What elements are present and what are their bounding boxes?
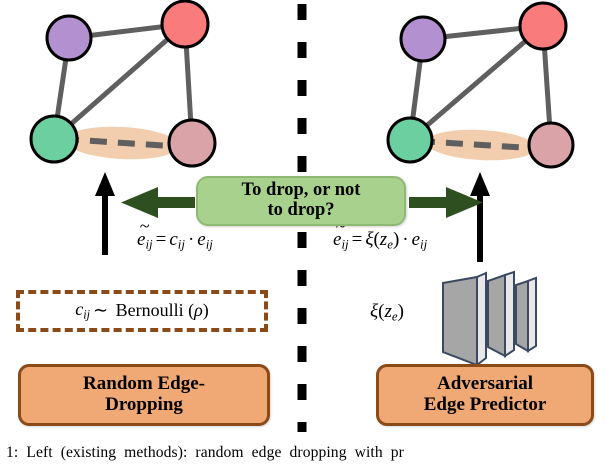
left-node-purple bbox=[47, 16, 91, 60]
equals-sign: = bbox=[349, 229, 366, 250]
left-formula-e: eij bbox=[197, 229, 213, 250]
bernoulli-box: cij∼ Bernoulli (ρ) bbox=[16, 290, 268, 332]
xi-symbol: ξ bbox=[370, 301, 378, 322]
left-node-red bbox=[162, 1, 208, 47]
neural-network-slabs bbox=[443, 272, 536, 365]
label-left-line-2: Dropping bbox=[105, 395, 183, 416]
left-formula-c: cij bbox=[169, 229, 185, 250]
right-graph bbox=[388, 3, 573, 167]
right-node-pink bbox=[529, 123, 573, 167]
label-adversarial-edge-predictor[interactable]: Adversarial Edge Predictor bbox=[376, 364, 594, 426]
distributed-as-icon: ∼ bbox=[90, 301, 111, 320]
left-graph bbox=[31, 1, 215, 166]
bernoulli-distribution: Bernoulli (ρ) bbox=[111, 301, 209, 320]
question-box[interactable]: To drop, or not to drop? bbox=[196, 176, 406, 226]
left-node-pink bbox=[169, 120, 215, 166]
dot-operator-icon: · bbox=[185, 229, 197, 250]
right-node-green bbox=[388, 118, 432, 162]
nn-slab-3-side bbox=[528, 278, 536, 351]
label-right-line-2: Edge Predictor bbox=[424, 395, 547, 416]
nn-slab-1-side bbox=[477, 273, 486, 365]
right-node-purple bbox=[401, 17, 445, 61]
right-formula-paren: (ze) bbox=[373, 229, 399, 250]
left-formula: ~eij=cij·eij bbox=[137, 229, 213, 253]
question-line-1: To drop, or not bbox=[242, 181, 361, 201]
dot-operator-icon: · bbox=[399, 229, 411, 250]
nn-slab-1-face bbox=[443, 277, 477, 365]
figure-caption-text: 1: Left (existing methods): random edge … bbox=[0, 444, 612, 462]
arrow-left-from-question bbox=[121, 187, 195, 218]
right-formula-lhs: ~eij bbox=[333, 229, 349, 253]
tilde-accent-icon: ~ bbox=[140, 216, 150, 237]
left-formula-lhs: ~eij bbox=[137, 229, 153, 253]
bernoulli-variable: cij bbox=[75, 300, 90, 322]
right-formula-e: eij bbox=[412, 229, 428, 250]
label-right-line-1: Adversarial bbox=[437, 374, 533, 395]
label-random-edge-dropping[interactable]: Random Edge- Dropping bbox=[18, 364, 270, 426]
equals-sign: = bbox=[153, 229, 170, 250]
xi-argument: (ze) bbox=[378, 301, 404, 322]
figure-root: To drop, or not to drop? ~eij=cij·eij ~e… bbox=[0, 0, 612, 466]
right-formula: ~eij=ξ(ze)·eij bbox=[333, 229, 427, 253]
label-left-line-1: Random Edge- bbox=[83, 374, 205, 395]
nn-slab-2-face bbox=[488, 275, 505, 356]
arrow-up-left-graph bbox=[95, 172, 115, 255]
arrow-up-right-graph bbox=[470, 172, 490, 262]
nn-slab-2-side bbox=[505, 272, 514, 356]
predictor-function-label: ξ(ze) bbox=[370, 301, 404, 325]
left-node-green bbox=[31, 116, 77, 162]
nn-slab-3-face bbox=[516, 281, 528, 351]
question-line-2: to drop? bbox=[242, 201, 361, 221]
right-node-red bbox=[520, 3, 566, 49]
figure-caption: 1: Left (existing methods): random edge … bbox=[0, 444, 612, 462]
